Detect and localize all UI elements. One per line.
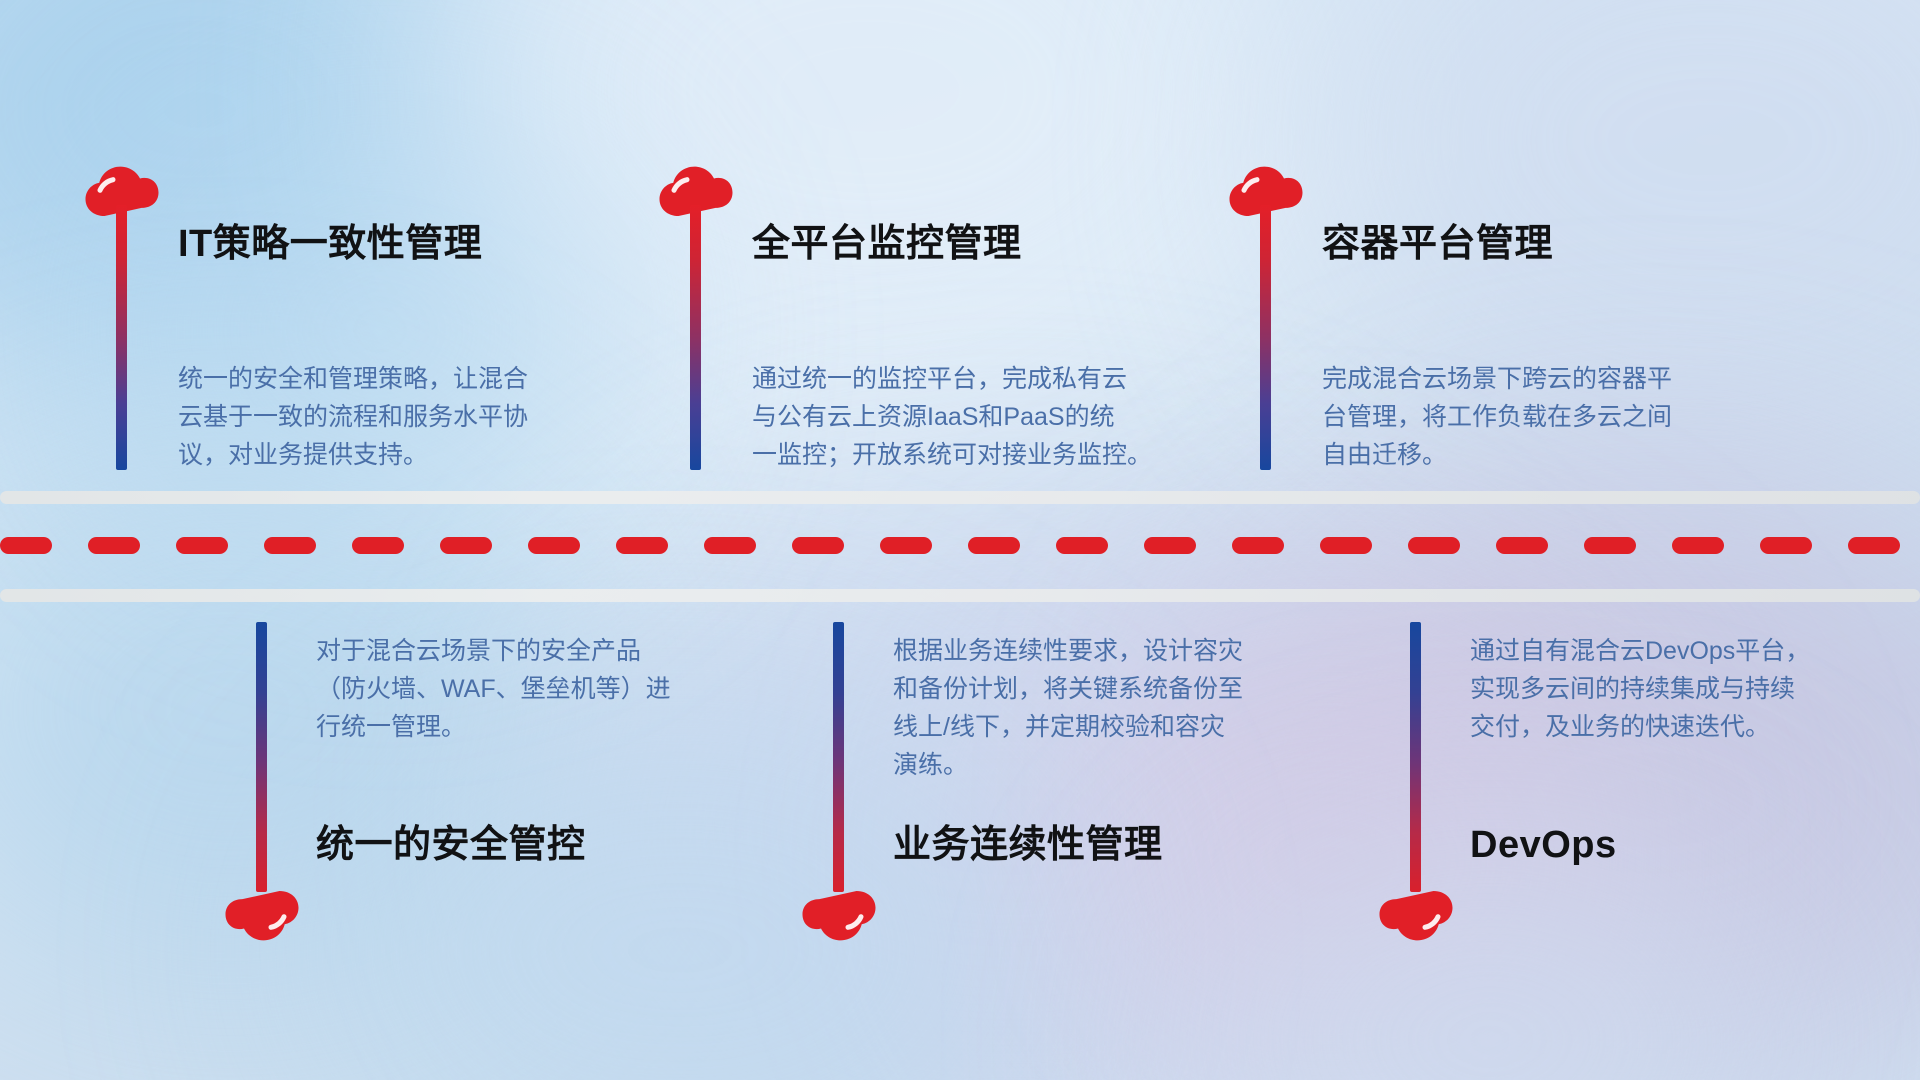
road-line-bottom	[0, 589, 1920, 602]
road-dash	[1144, 537, 1196, 554]
bottom-item-3-title: DevOps	[1470, 826, 1617, 864]
top-item-3-title: 容器平台管理	[1322, 225, 1553, 263]
bottom-item-2-body: 根据业务连续性要求，设计容灾 和备份计划，将关键系统备份至 线上/线下，并定期校…	[893, 632, 1313, 784]
road-dash	[88, 537, 140, 554]
bottom-item-3-body: 通过自有混合云DevOps平台， 实现多云间的持续集成与持续 交付，及业务的快速…	[1470, 632, 1870, 746]
connector-stem	[690, 205, 701, 470]
road-dash	[1672, 537, 1724, 554]
connector-stem	[833, 622, 844, 892]
road-line-top	[0, 491, 1920, 504]
top-item-3-body: 完成混合云场景下跨云的容器平 台管理，将工作负载在多云之间 自由迁移。	[1322, 360, 1742, 474]
connector-stem	[1410, 622, 1421, 892]
connector-stem	[116, 205, 127, 470]
road-dash	[1320, 537, 1372, 554]
bottom-item-1-body: 对于混合云场景下的安全产品 （防火墙、WAF、堡垒机等）进 行统一管理。	[316, 632, 736, 746]
road-dash	[1408, 537, 1460, 554]
road-dash	[1496, 537, 1548, 554]
road-dash	[616, 537, 668, 554]
cloud-icon	[1378, 890, 1454, 948]
top-item-1-title: IT策略一致性管理	[178, 225, 482, 263]
road-dash	[792, 537, 844, 554]
bottom-item-1-title: 统一的安全管控	[316, 826, 586, 864]
road-dash	[1584, 537, 1636, 554]
road-dash	[440, 537, 492, 554]
background-blob	[120, 120, 640, 540]
road-dash	[704, 537, 756, 554]
top-item-2-body: 通过统一的监控平台，完成私有云 与公有云上资源IaaS和PaaS的统 一监控；开…	[752, 360, 1192, 474]
connector-stem	[1260, 205, 1271, 470]
road-dash	[264, 537, 316, 554]
top-item-1-body: 统一的安全和管理策略，让混合 云基于一致的流程和服务水平协 议，对业务提供支持。	[178, 360, 598, 474]
infographic-canvas: IT策略一致性管理 统一的安全和管理策略，让混合 云基于一致的流程和服务水平协 …	[0, 0, 1920, 1080]
road-dash	[176, 537, 228, 554]
road-dash	[1056, 537, 1108, 554]
road-dash	[1232, 537, 1284, 554]
bottom-item-2-title: 业务连续性管理	[893, 826, 1163, 864]
top-item-2-title: 全平台监控管理	[752, 225, 1022, 263]
road-dashed-center-line	[0, 536, 1920, 554]
connector-stem	[256, 622, 267, 892]
road-dash	[528, 537, 580, 554]
cloud-icon	[801, 890, 877, 948]
cloud-icon	[224, 890, 300, 948]
road-dash	[880, 537, 932, 554]
road-dash	[0, 537, 52, 554]
road-dash	[1848, 537, 1900, 554]
road-dash	[1760, 537, 1812, 554]
road-dash	[968, 537, 1020, 554]
road-dash	[352, 537, 404, 554]
